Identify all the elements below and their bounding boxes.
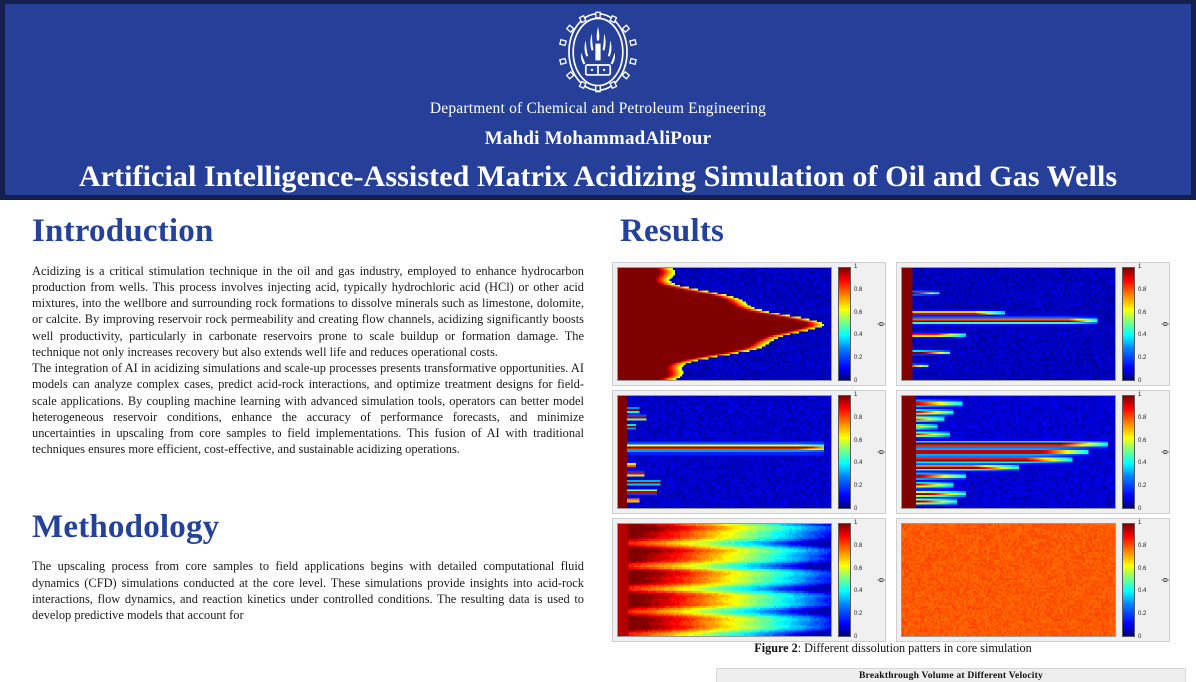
colorbar-tick: 0.4: [854, 588, 862, 594]
colorbar: 00.20.40.60.81 ϕ: [1122, 523, 1166, 637]
heatmap-card-wormhole-a: 00.20.40.60.81 ϕ: [896, 262, 1170, 386]
colorbar-tick: 0.6: [854, 566, 862, 572]
colorbar-tick: 0.4: [1138, 588, 1146, 594]
poster-header-inner: Department of Chemical and Petroleum Eng…: [5, 4, 1191, 195]
heatmap-plot: [901, 523, 1116, 637]
colorbar-tick: 0.8: [854, 415, 862, 421]
heatmap-canvas: [902, 268, 1115, 380]
heatmap-plot: [617, 267, 832, 381]
colorbar: 00.20.40.60.81 ϕ: [1122, 267, 1166, 381]
colorbar-tick: 0.6: [1138, 566, 1146, 572]
poster-header: Department of Chemical and Petroleum Eng…: [0, 0, 1196, 200]
colorbar-tick: 0.4: [854, 332, 862, 338]
left-column: Introduction Acidizing is a critical sti…: [0, 200, 600, 682]
colorbar-axis-label: ϕ: [1160, 322, 1170, 327]
heatmap-canvas: [902, 524, 1115, 636]
heatmap-card-ramified: 00.20.40.60.81 ϕ: [896, 390, 1170, 514]
methodology-paragraph-1: The upscaling process from core samples …: [32, 558, 584, 623]
figure-2-caption-text: : Different dissolution patters in core …: [798, 641, 1032, 655]
colorbar-axis-label: ϕ: [1160, 450, 1170, 455]
colorbar-axis-label: ϕ: [1160, 578, 1170, 583]
introduction-heading: Introduction: [32, 214, 584, 249]
colorbar-gradient: [838, 395, 851, 509]
colorbar-tick: 0: [854, 378, 857, 384]
colorbar-tick: 0.6: [1138, 438, 1146, 444]
colorbar-tick: 0.8: [854, 287, 862, 293]
colorbar-gradient: [1122, 267, 1135, 381]
heatmap-canvas: [902, 396, 1115, 508]
colorbar-tick: 0.4: [1138, 460, 1146, 466]
heatmap-plot: [901, 395, 1116, 509]
heatmap-card-uniform: 00.20.40.60.81 ϕ: [896, 518, 1170, 642]
colorbar-tick: 0.2: [1138, 611, 1146, 617]
colorbar-tick: 0.6: [854, 310, 862, 316]
figure-2-label: Figure 2: [754, 641, 797, 655]
colorbar-tick: 1: [1138, 392, 1141, 398]
colorbar-axis-label: ϕ: [876, 450, 886, 455]
results-heading: Results: [620, 214, 1178, 249]
poster-title: Artificial Intelligence-Assisted Matrix …: [79, 160, 1117, 194]
colorbar-tick: 0.8: [1138, 415, 1146, 421]
methodology-heading: Methodology: [32, 510, 584, 545]
colorbar-tick: 0: [1138, 506, 1141, 512]
colorbar-tick: 0.6: [1138, 310, 1146, 316]
breakthrough-volume-chart-title: Breakthrough Volume at Different Velocit…: [717, 670, 1185, 681]
colorbar: 00.20.40.60.81 ϕ: [838, 523, 882, 637]
colorbar-axis-label: ϕ: [876, 578, 886, 583]
heatmap-card-conical: 00.20.40.60.81 ϕ: [612, 262, 886, 386]
colorbar-tick: 0.2: [1138, 483, 1146, 489]
colorbar: 00.20.40.60.81 ϕ: [1122, 395, 1166, 509]
introduction-paragraph-1: Acidizing is a critical stimulation tech…: [32, 263, 584, 361]
colorbar-tick: 0.4: [854, 460, 862, 466]
heatmap-canvas: [618, 396, 831, 508]
colorbar-tick: 0.8: [854, 543, 862, 549]
colorbar-tick: 0: [1138, 634, 1141, 640]
colorbar-tick: 0.6: [854, 438, 862, 444]
colorbar-tick: 0.8: [1138, 543, 1146, 549]
department-line: Department of Chemical and Petroleum Eng…: [430, 100, 766, 118]
figure-2-caption: Figure 2: Different dissolution patters …: [612, 641, 1174, 656]
colorbar-axis-label: ϕ: [876, 322, 886, 327]
colorbar-tick: 1: [854, 392, 857, 398]
sharif-university-gear-logo: [559, 10, 637, 94]
breakthrough-volume-chart: Breakthrough Volume at Different Velocit…: [716, 668, 1186, 682]
author-name: Mahdi MohammadAliPour: [485, 128, 711, 150]
colorbar-gradient: [838, 523, 851, 637]
colorbar-tick: 0: [854, 634, 857, 640]
colorbar-tick: 0.4: [1138, 332, 1146, 338]
colorbar-tick: 0: [854, 506, 857, 512]
heatmap-plot: [901, 267, 1116, 381]
colorbar-tick: 1: [1138, 520, 1141, 526]
colorbar-tick: 0: [1138, 378, 1141, 384]
results-figure-grid: 00.20.40.60.81 ϕ 00.20.40.60.81 ϕ 00.20.…: [612, 262, 1174, 640]
colorbar-tick: 0.8: [1138, 287, 1146, 293]
colorbar: 00.20.40.60.81 ϕ: [838, 395, 882, 509]
colorbar-tick: 0.2: [854, 611, 862, 617]
heatmap-card-dominant-wormhole: 00.20.40.60.81 ϕ: [612, 390, 886, 514]
heatmap-plot: [617, 395, 832, 509]
colorbar-tick: 0.2: [854, 355, 862, 361]
colorbar-tick: 0.2: [854, 483, 862, 489]
colorbar-gradient: [838, 267, 851, 381]
colorbar-tick: 1: [1138, 264, 1141, 270]
introduction-paragraph-2: The integration of AI in acidizing simul…: [32, 360, 584, 458]
heatmap-plot: [617, 523, 832, 637]
colorbar-gradient: [1122, 395, 1135, 509]
heatmap-canvas: [618, 524, 831, 636]
heatmap-canvas: [618, 268, 831, 380]
colorbar-tick: 1: [854, 264, 857, 270]
colorbar: 00.20.40.60.81 ϕ: [838, 267, 882, 381]
colorbar-tick: 0.2: [1138, 355, 1146, 361]
heatmap-card-compact: 00.20.40.60.81 ϕ: [612, 518, 886, 642]
colorbar-gradient: [1122, 523, 1135, 637]
colorbar-tick: 1: [854, 520, 857, 526]
